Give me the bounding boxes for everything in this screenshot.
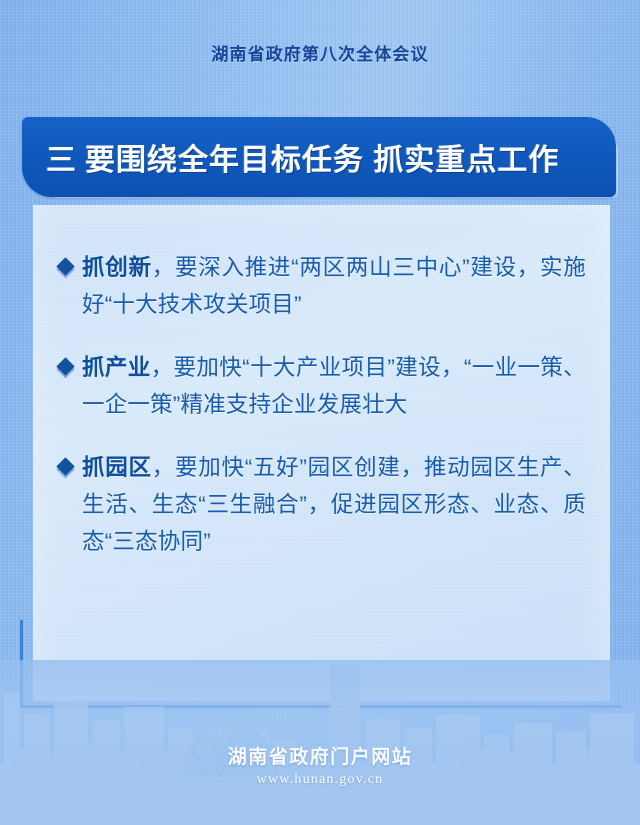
footer-site-name: 湖南省政府门户网站 xyxy=(0,742,640,769)
footer-url: www.hunan.gov.cn xyxy=(0,772,640,788)
banner-title-text: 三要围绕全年目标任务 抓实重点工作 xyxy=(46,135,559,179)
banner-index-number: 三 xyxy=(46,144,77,177)
list-item-body: ，要加快“五好”园区创建，推动园区生产、生活、生态“三生融合”，促进园区形态、业… xyxy=(82,455,586,554)
bullet-list: 抓创新，要深入推进“两区两山三中心”建设，实施好“十大技术攻关项目” 抓产业，要… xyxy=(33,205,610,560)
list-item-text: 抓园区，要加快“五好”园区创建，推动园区生产、生活、生态“三生融合”，促进园区形… xyxy=(82,449,586,560)
list-item: 抓创新，要深入推进“两区两山三中心”建设，实施好“十大技术攻关项目” xyxy=(59,249,586,323)
diamond-bullet-icon xyxy=(56,257,74,275)
footer-text-block: 湖南省政府门户网站 www.hunan.gov.cn xyxy=(0,742,640,788)
banner-body: 三要围绕全年目标任务 抓实重点工作 xyxy=(22,117,616,197)
diamond-bullet-icon xyxy=(56,357,74,375)
list-item-lead: 抓产业 xyxy=(82,355,151,380)
poster-header: 湖南省政府第八次全体会议 xyxy=(0,0,640,104)
content-card: 抓创新，要深入推进“两区两山三中心”建设，实施好“十大技术攻关项目” 抓产业，要… xyxy=(33,205,610,701)
header-title: 湖南省政府第八次全体会议 xyxy=(211,40,428,65)
list-item: 抓产业，要加快“十大产业项目”建设，“一业一策、一企一策”精准支持企业发展壮大 xyxy=(59,349,586,423)
list-item-body: ，要深入推进“两区两山三中心”建设，实施好“十大技术攻关项目” xyxy=(82,255,586,317)
list-item-text: 抓创新，要深入推进“两区两山三中心”建设，实施好“十大技术攻关项目” xyxy=(82,249,586,323)
list-item: 抓园区，要加快“五好”园区创建，推动园区生产、生活、生态“三生融合”，促进园区形… xyxy=(59,449,586,560)
footer-cityscape: 湖南省政府门户网站 www.hunan.gov.cn xyxy=(0,660,640,825)
poster-page: 湖南省政府第八次全体会议 三要围绕全年目标任务 抓实重点工作 抓创新，要深入推进… xyxy=(0,0,640,825)
list-item-lead: 抓园区 xyxy=(82,455,152,480)
list-item-text: 抓产业，要加快“十大产业项目”建设，“一业一策、一企一策”精准支持企业发展壮大 xyxy=(82,349,586,423)
section-title-banner: 三要围绕全年目标任务 抓实重点工作 xyxy=(20,113,620,205)
list-item-lead: 抓创新 xyxy=(82,255,152,280)
list-item-body: ，要加快“十大产业项目”建设，“一业一策、一企一策”精准支持企业发展壮大 xyxy=(82,355,586,417)
banner-title-label: 要围绕全年目标任务 抓实重点工作 xyxy=(85,144,559,177)
diamond-bullet-icon xyxy=(56,457,74,475)
